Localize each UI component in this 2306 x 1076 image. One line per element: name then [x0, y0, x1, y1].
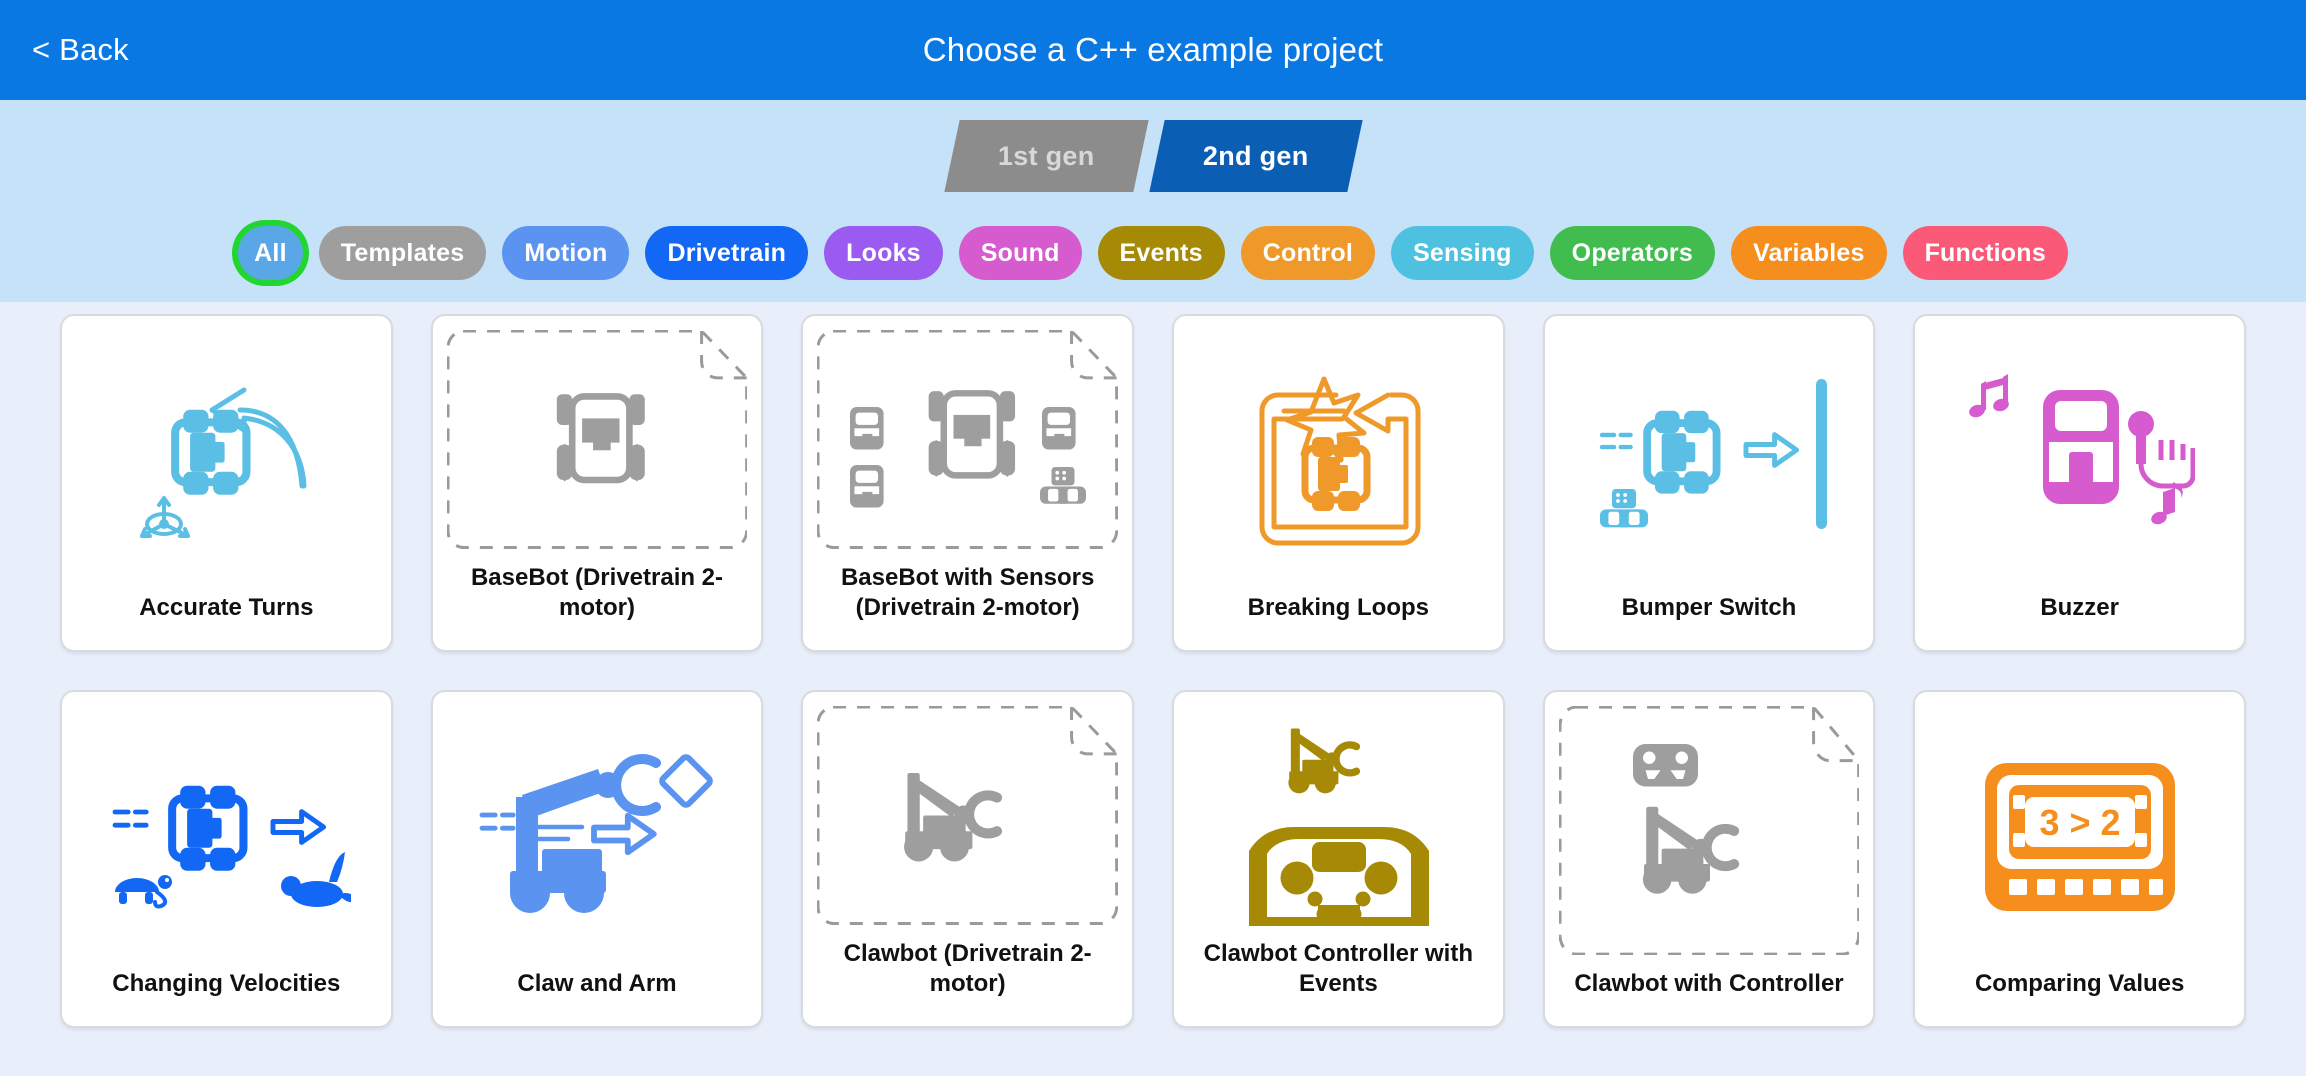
category-pill-label: Sound — [981, 239, 1060, 268]
category-pill-label: Control — [1263, 239, 1353, 268]
project-card[interactable]: BaseBot with Sensors (Drivetrain 2-motor… — [801, 314, 1134, 652]
project-card-title: Comparing Values — [1915, 969, 2244, 1026]
project-card-artwork — [433, 692, 762, 969]
basebot-sensors-icon — [828, 349, 1108, 529]
category-pill-templates[interactable]: Templates — [319, 226, 487, 280]
breaking-loops-icon — [1238, 361, 1438, 561]
project-card[interactable]: Changing Velocities — [60, 690, 393, 1028]
project-card-artwork: 3 > 2 — [1915, 692, 2244, 969]
project-list-area: Accurate TurnsBaseBot (Drivetrain 2-moto… — [0, 302, 2306, 1040]
project-card[interactable]: Clawbot with Controller — [1543, 690, 1876, 1028]
category-pill-motion[interactable]: Motion — [502, 226, 629, 280]
project-card-title: Buzzer — [1915, 593, 2244, 650]
project-card[interactable]: 3 > 2Comparing Values — [1913, 690, 2246, 1028]
project-card-title: Changing Velocities — [62, 969, 391, 1026]
claw-and-arm-icon — [472, 737, 722, 937]
project-card[interactable]: Breaking Loops — [1172, 314, 1505, 652]
project-card-title: Breaking Loops — [1174, 593, 1503, 650]
project-card-artwork — [433, 316, 762, 563]
project-card[interactable]: Clawbot (Drivetrain 2-motor) — [801, 690, 1134, 1028]
project-card-artwork — [1174, 692, 1503, 939]
project-card-artwork — [1545, 316, 1874, 593]
project-card-artwork — [1545, 692, 1874, 969]
category-pill-variables[interactable]: Variables — [1731, 226, 1887, 280]
project-card[interactable]: BaseBot (Drivetrain 2-motor) — [431, 314, 764, 652]
template-dashed-frame — [447, 330, 748, 549]
page-title: Choose a C++ example project — [0, 31, 2306, 69]
category-pill-all[interactable]: All — [238, 226, 303, 280]
project-card[interactable]: Accurate Turns — [60, 314, 393, 652]
project-card[interactable]: Claw and Arm — [431, 690, 764, 1028]
project-card-artwork — [1915, 316, 2244, 593]
category-pill-events[interactable]: Events — [1098, 226, 1225, 280]
project-card-title: Clawbot with Controller — [1545, 969, 1874, 1026]
tab-1st-gen[interactable]: 1st gen — [944, 120, 1148, 192]
category-pill-operators[interactable]: Operators — [1550, 226, 1715, 280]
project-card[interactable]: Bumper Switch — [1543, 314, 1876, 652]
category-pill-label: Variables — [1753, 239, 1865, 268]
project-card-title: BaseBot with Sensors (Drivetrain 2-motor… — [803, 563, 1132, 650]
project-card[interactable]: Buzzer — [1913, 314, 2246, 652]
template-dashed-frame — [1559, 706, 1860, 955]
project-card-title: Clawbot (Drivetrain 2-motor) — [803, 939, 1132, 1026]
tab-2nd-gen-label: 2nd gen — [1203, 141, 1309, 172]
category-pill-looks[interactable]: Looks — [824, 226, 943, 280]
project-card-artwork — [803, 692, 1132, 939]
category-pill-label: All — [254, 239, 287, 268]
project-card-artwork — [62, 692, 391, 969]
template-dashed-frame — [817, 706, 1118, 925]
basebot-icon — [522, 364, 672, 514]
app-header: < Back Choose a C++ example project — [0, 0, 2306, 100]
clawbot-icon — [878, 740, 1058, 890]
bumper-switch-icon — [1584, 361, 1834, 561]
template-dashed-frame — [817, 330, 1118, 549]
category-pill-label: Functions — [1925, 239, 2046, 268]
category-pill-label: Drivetrain — [667, 239, 786, 268]
generation-tab-group: 1st gen 2nd gen — [0, 120, 2306, 192]
project-card-artwork — [62, 316, 391, 593]
project-card-grid: Accurate TurnsBaseBot (Drivetrain 2-moto… — [60, 314, 2246, 1028]
category-pill-label: Templates — [341, 239, 465, 268]
project-card-title: Bumper Switch — [1545, 593, 1874, 650]
project-card-artwork — [803, 316, 1132, 563]
svg-text:3 > 2: 3 > 2 — [2039, 802, 2120, 843]
category-pill-drivetrain[interactable]: Drivetrain — [645, 226, 808, 280]
category-filter-row: AllTemplatesMotionDrivetrainLooksSoundEv… — [0, 226, 2306, 280]
changing-velocities-icon — [101, 742, 351, 932]
category-pill-sensing[interactable]: Sensing — [1391, 226, 1534, 280]
category-pill-control[interactable]: Control — [1241, 226, 1375, 280]
category-pill-functions[interactable]: Functions — [1903, 226, 2068, 280]
clawbot-with-controller-icon — [1609, 736, 1809, 926]
category-pill-label: Sensing — [1413, 239, 1512, 268]
back-button[interactable]: < Back — [22, 26, 139, 74]
category-pill-label: Events — [1120, 239, 1203, 268]
project-card-artwork — [1174, 316, 1503, 593]
category-pill-label: Looks — [846, 239, 921, 268]
filter-band: 1st gen 2nd gen AllTemplatesMotionDrivet… — [0, 100, 2306, 302]
project-card-title: Clawbot Controller with Events — [1174, 939, 1503, 1026]
accurate-turns-icon — [116, 356, 336, 566]
project-card-title: Claw and Arm — [433, 969, 762, 1026]
project-card-title: Accurate Turns — [62, 593, 391, 650]
project-card[interactable]: Clawbot Controller with Events — [1172, 690, 1505, 1028]
tab-1st-gen-label: 1st gen — [998, 141, 1095, 172]
clawbot-controller-events-icon — [1223, 716, 1453, 926]
buzzer-icon — [1965, 366, 2195, 556]
category-pill-sound[interactable]: Sound — [959, 226, 1082, 280]
tab-2nd-gen[interactable]: 2nd gen — [1149, 120, 1362, 192]
project-card-title: BaseBot (Drivetrain 2-motor) — [433, 563, 762, 650]
category-pill-label: Operators — [1572, 239, 1693, 268]
comparing-values-icon: 3 > 2 — [1975, 757, 2185, 917]
category-pill-label: Motion — [524, 239, 607, 268]
